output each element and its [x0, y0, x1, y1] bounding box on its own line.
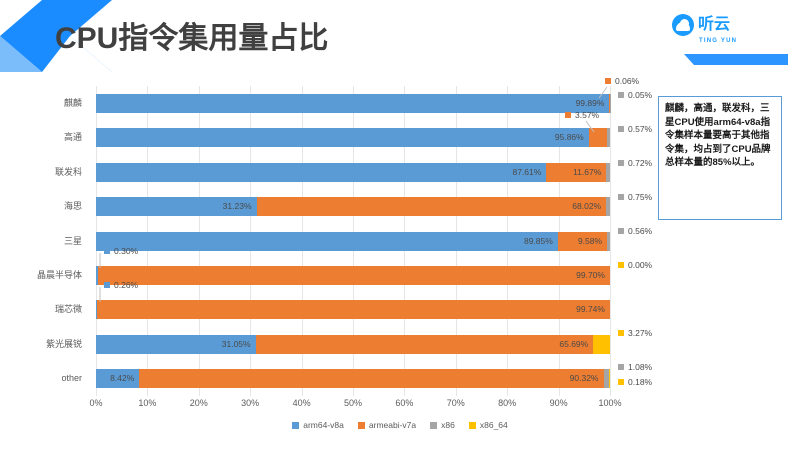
bar-data-label: 95.86%	[96, 128, 589, 147]
legend-label: armeabi-v7a	[369, 420, 416, 430]
category-label: 海思	[64, 197, 82, 216]
plot-area: 99.89%95.86%87.61%11.67%31.23%68.02%89.8…	[96, 86, 610, 396]
outside-data-label-text: 3.27%	[628, 327, 652, 339]
outside-data-label-text: 0.00%	[628, 259, 652, 271]
bar-data-label: 99.89%	[96, 94, 609, 113]
axis-tick-label: 0%	[76, 398, 116, 408]
outside-data-label-text: 0.57%	[628, 123, 652, 135]
legend-swatch	[469, 422, 476, 429]
brand-name-cn: 听云	[698, 17, 730, 33]
bar-data-label: 31.05%	[96, 335, 256, 354]
category-label: 晶晨半导体	[37, 266, 82, 285]
brand-mark: 听云	[672, 14, 730, 36]
legend-swatch	[618, 92, 624, 98]
category-label: 瑞芯微	[55, 300, 82, 319]
outside-data-label: 0.75%	[618, 191, 652, 203]
legend-swatch	[618, 364, 624, 370]
bar-data-label: 9.58%	[558, 232, 607, 251]
bar-row[interactable]: 31.23%68.02%	[96, 197, 610, 216]
legend-label: x86	[441, 420, 455, 430]
callout-text: 0.30%	[114, 245, 138, 257]
bar-callout-label: 0.06%	[605, 75, 639, 87]
bar-row[interactable]: 89.85%9.58%	[96, 232, 610, 251]
outside-data-label: 0.57%	[618, 123, 652, 135]
outside-data-label: 0.05%	[618, 89, 652, 101]
callout-swatch	[605, 78, 611, 84]
category-label: 三星	[64, 232, 82, 251]
outside-data-label-text: 0.72%	[628, 157, 652, 169]
axis-tick-label: 100%	[590, 398, 630, 408]
legend-label: arm64-v8a	[303, 420, 344, 430]
legend-swatch	[618, 262, 624, 268]
bar-segment-x86[interactable]	[610, 94, 611, 113]
bar-data-label: 31.23%	[96, 197, 257, 216]
axis-tick-label: 50%	[333, 398, 373, 408]
bar-data-label: 87.61%	[96, 163, 546, 182]
bar-data-label: 65.69%	[256, 335, 594, 354]
bar-segment-x86[interactable]	[607, 128, 610, 147]
bar-row[interactable]: 99.70%	[96, 266, 610, 285]
brand-logo: 听云 TING YUN	[672, 14, 792, 66]
brand-accent-bar	[684, 54, 788, 65]
axis-tick-label: 60%	[384, 398, 424, 408]
legend-swatch	[292, 422, 299, 429]
bar-row[interactable]: 99.89%	[96, 94, 610, 113]
bar-data-label: 99.74%	[97, 300, 610, 319]
category-axis: 麒麟高通联发科海思三星晶晨半导体瑞芯微紫光展锐other	[0, 86, 90, 396]
bar-data-label: 90.32%	[139, 369, 603, 388]
brand-name-en: TING YUN	[699, 38, 737, 44]
axis-tick-label: 40%	[282, 398, 322, 408]
callout-text: 0.06%	[615, 75, 639, 87]
axis-tick-label: 20%	[179, 398, 219, 408]
bar-data-label: 89.85%	[96, 232, 558, 251]
bar-callout-label: 0.26%	[104, 279, 138, 291]
bar-segment-x86_64[interactable]	[609, 369, 610, 388]
gridline	[610, 86, 611, 396]
bar-callout-label: 3.57%	[565, 109, 599, 121]
outside-data-label-text: 1.08%	[628, 361, 652, 373]
legend-item-x86[interactable]: x86	[430, 420, 455, 430]
outside-data-label: 1.08%	[618, 361, 652, 373]
bar-row[interactable]: 31.05%65.69%	[96, 335, 610, 354]
bar-data-label: 68.02%	[257, 197, 607, 216]
axis-tick-label: 90%	[539, 398, 579, 408]
chart-legend: arm64-v8aarmeabi-v7ax86x86_64	[0, 420, 800, 430]
outside-data-label: 0.56%	[618, 225, 652, 237]
category-label: 高通	[64, 128, 82, 147]
legend-item-armeabi-v7a[interactable]: armeabi-v7a	[358, 420, 416, 430]
outside-data-label: 0.72%	[618, 157, 652, 169]
callout-text: 0.26%	[114, 279, 138, 291]
chart-area: 麒麟高通联发科海思三星晶晨半导体瑞芯微紫光展锐other 99.89%95.86…	[0, 72, 800, 450]
callout-text: 3.57%	[575, 109, 599, 121]
bar-callout-label: 0.30%	[104, 245, 138, 257]
bar-row[interactable]: 87.61%11.67%	[96, 163, 610, 182]
value-axis-ticks: 0%10%20%30%40%50%60%70%80%90%100%	[96, 398, 626, 414]
outside-data-label-text: 0.05%	[628, 89, 652, 101]
bar-data-label: 11.67%	[546, 163, 606, 182]
bar-segment-x86_64[interactable]	[593, 335, 610, 354]
category-label: 紫光展锐	[46, 335, 82, 354]
annotation-callout-box: 麒麟，高通，联发科，三星CPU使用arm64-v8a指令集样本量要高于其他指令集…	[658, 96, 782, 220]
callout-swatch	[565, 112, 571, 118]
outside-data-label-text: 0.18%	[628, 376, 652, 388]
outside-data-label-text: 0.75%	[628, 191, 652, 203]
legend-swatch	[618, 194, 624, 200]
cloud-icon	[672, 14, 694, 36]
legend-swatch	[358, 422, 365, 429]
legend-swatch	[618, 379, 624, 385]
bar-segment-x86[interactable]	[606, 163, 610, 182]
outside-data-label: 3.27%	[618, 327, 652, 339]
legend-item-arm64-v8a[interactable]: arm64-v8a	[292, 420, 344, 430]
bar-row[interactable]: 95.86%	[96, 128, 610, 147]
axis-tick-label: 10%	[127, 398, 167, 408]
legend-label: x86_64	[480, 420, 508, 430]
page-header: CPU指令集用量占比 听云 TING YUN	[0, 0, 800, 72]
legend-swatch	[618, 160, 624, 166]
bar-row[interactable]: 99.74%	[96, 300, 610, 319]
outside-data-label-text: 0.56%	[628, 225, 652, 237]
legend-swatch	[618, 126, 624, 132]
bar-segment-x86[interactable]	[607, 232, 610, 251]
bar-segment-x86[interactable]	[606, 197, 610, 216]
bar-data-label: 8.42%	[96, 369, 139, 388]
bar-segment-armeabi-v7a[interactable]	[589, 128, 607, 147]
legend-swatch	[618, 330, 624, 336]
category-label: 联发科	[55, 163, 82, 182]
outside-data-label: 0.18%	[618, 376, 652, 388]
category-label: 麒麟	[64, 94, 82, 113]
axis-tick-label: 30%	[230, 398, 270, 408]
bar-row[interactable]: 8.42%90.32%	[96, 369, 610, 388]
legend-swatch	[618, 228, 624, 234]
callout-swatch	[104, 248, 110, 254]
legend-item-x86_64[interactable]: x86_64	[469, 420, 508, 430]
axis-tick-label: 70%	[436, 398, 476, 408]
axis-tick-label: 80%	[487, 398, 527, 408]
page-title: CPU指令集用量占比	[55, 13, 328, 57]
outside-data-label: 0.00%	[618, 259, 652, 271]
category-label: other	[61, 369, 82, 388]
bar-data-label: 99.70%	[98, 266, 610, 285]
legend-swatch	[430, 422, 437, 429]
callout-swatch	[104, 282, 110, 288]
